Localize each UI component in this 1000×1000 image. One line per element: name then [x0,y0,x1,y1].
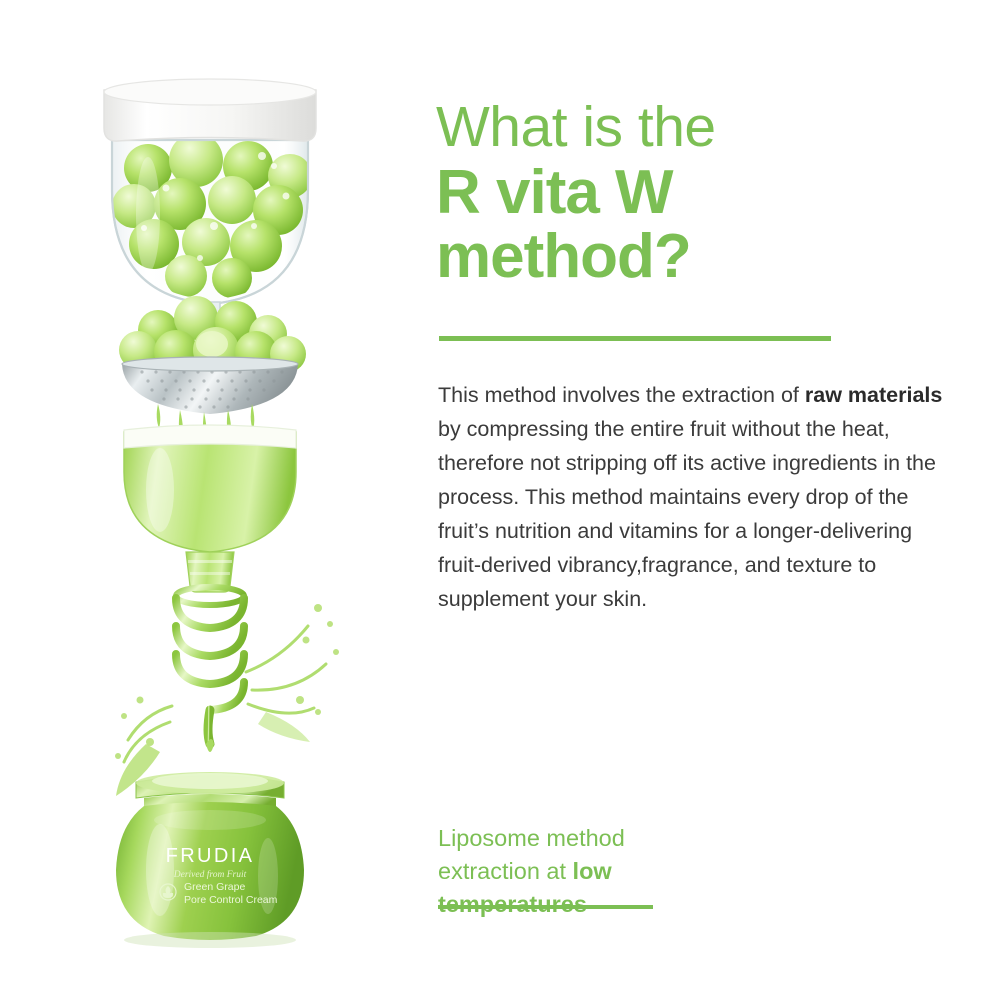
headline-line-1: What is the [436,99,976,156]
jar-product-line1: Green Grape [184,881,245,893]
spiral-coil-stage [115,587,339,796]
infographic-page: FRUDIA Derived from Fruit Green Grape Po… [0,0,1000,1000]
jar-tagline-text: Derived from Fruit [173,869,247,880]
juice-bowl-stage [124,425,296,592]
headline-line-2: R vita W [436,162,976,224]
product-process-illustration: FRUDIA Derived from Fruit Green Grape Po… [0,0,420,1000]
content-column: What is the R vita W method? This method… [436,0,984,1000]
body-paragraph: This method involves the extraction of r… [438,378,948,616]
caption-underline [438,905,653,909]
bowl-rim [124,425,296,448]
page-title: What is the R vita W method? [436,99,976,290]
jar-product-line2: Pore Control Cream [184,894,278,906]
headline-line-3: method? [436,226,976,288]
product-jar-stage: FRUDIA Derived from Fruit Green Grape Po… [116,772,304,948]
juice-splash [124,626,326,762]
jar-brand-text: FRUDIA [166,845,255,867]
illustration-svg: FRUDIA Derived from Fruit Green Grape Po… [0,0,420,1000]
heading-divider [439,336,831,341]
